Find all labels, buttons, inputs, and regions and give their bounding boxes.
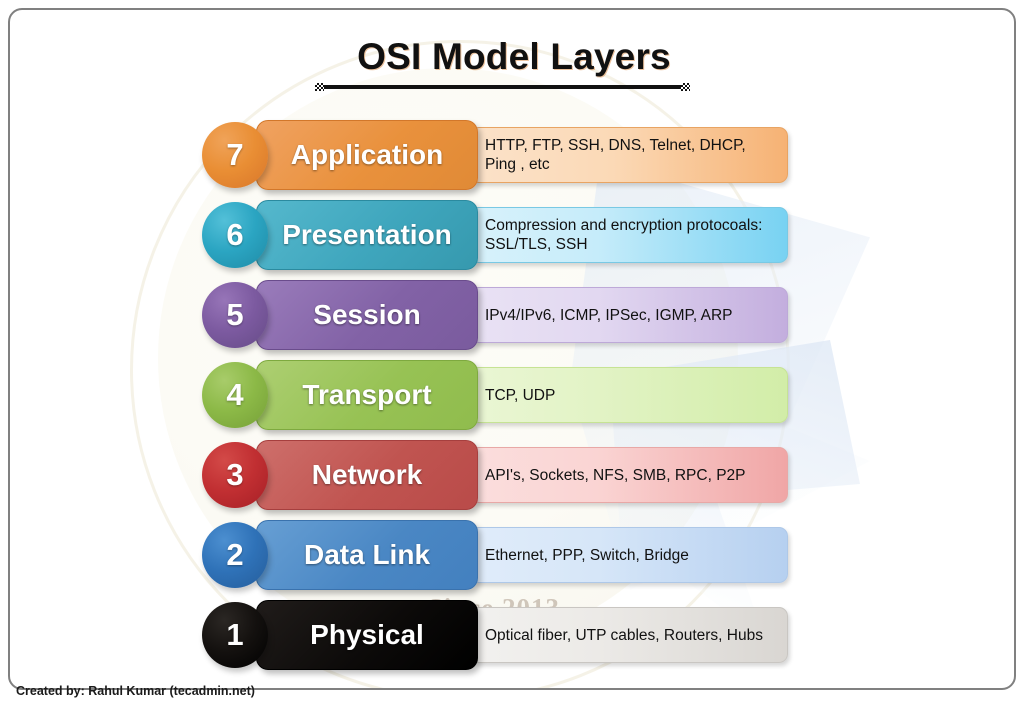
layer-name-plate-1: Physical [256,600,478,670]
layer-number-badge-3: 3 [202,442,268,508]
osi-layer-row-2[interactable]: 2 Data Link Ethernet, PPP, Switch, Bridg… [202,520,802,590]
layer-number-badge-5: 5 [202,282,268,348]
layer-description-2: Ethernet, PPP, Switch, Bridge [470,527,788,583]
osi-layer-row-7[interactable]: 7 Application HTTP, FTP, SSH, DNS, Telne… [202,120,802,190]
layer-name-plate-3: Network [256,440,478,510]
layer-name-plate-4: Transport [256,360,478,430]
osi-layer-list: 7 Application HTTP, FTP, SSH, DNS, Telne… [10,10,1016,690]
layer-description-text-7: HTTP, FTP, SSH, DNS, Telnet, DHCP, Ping … [485,136,775,174]
layer-description-text-3: API's, Sockets, NFS, SMB, RPC, P2P [485,466,746,485]
layer-description-7: HTTP, FTP, SSH, DNS, Telnet, DHCP, Ping … [470,127,788,183]
credit-line: Created by: Rahul Kumar (tecadmin.net) [16,684,255,698]
layer-description-text-5: IPv4/IPv6, ICMP, IPSec, IGMP, ARP [485,306,733,325]
layer-description-3: API's, Sockets, NFS, SMB, RPC, P2P [470,447,788,503]
layer-number-badge-2: 2 [202,522,268,588]
layer-number-badge-4: 4 [202,362,268,428]
layer-description-text-6: Compression and encryption protocoals: S… [485,216,775,254]
layer-description-4: TCP, UDP [470,367,788,423]
layer-description-1: Optical fiber, UTP cables, Routers, Hubs [470,607,788,663]
layer-description-text-2: Ethernet, PPP, Switch, Bridge [485,546,689,565]
osi-layer-row-3[interactable]: 3 Network API's, Sockets, NFS, SMB, RPC,… [202,440,802,510]
layer-number-badge-6: 6 [202,202,268,268]
layer-description-6: Compression and encryption protocoals: S… [470,207,788,263]
layer-number-badge-1: 1 [202,602,268,668]
osi-model-diagram: TecAdmin.net - Since 2013 - OSI Model La… [0,0,1024,714]
diagram-frame: TecAdmin.net - Since 2013 - OSI Model La… [8,8,1016,690]
layer-description-5: IPv4/IPv6, ICMP, IPSec, IGMP, ARP [470,287,788,343]
osi-layer-row-1[interactable]: 1 Physical Optical fiber, UTP cables, Ro… [202,600,802,670]
layer-name-plate-6: Presentation [256,200,478,270]
layer-description-text-4: TCP, UDP [485,386,555,405]
layer-description-text-1: Optical fiber, UTP cables, Routers, Hubs [485,626,763,645]
osi-layer-row-5[interactable]: 5 Session IPv4/IPv6, ICMP, IPSec, IGMP, … [202,280,802,350]
layer-number-badge-7: 7 [202,122,268,188]
layer-name-plate-5: Session [256,280,478,350]
osi-layer-row-6[interactable]: 6 Presentation Compression and encryptio… [202,200,802,270]
layer-name-plate-7: Application [256,120,478,190]
osi-layer-row-4[interactable]: 4 Transport TCP, UDP [202,360,802,430]
layer-name-plate-2: Data Link [256,520,478,590]
